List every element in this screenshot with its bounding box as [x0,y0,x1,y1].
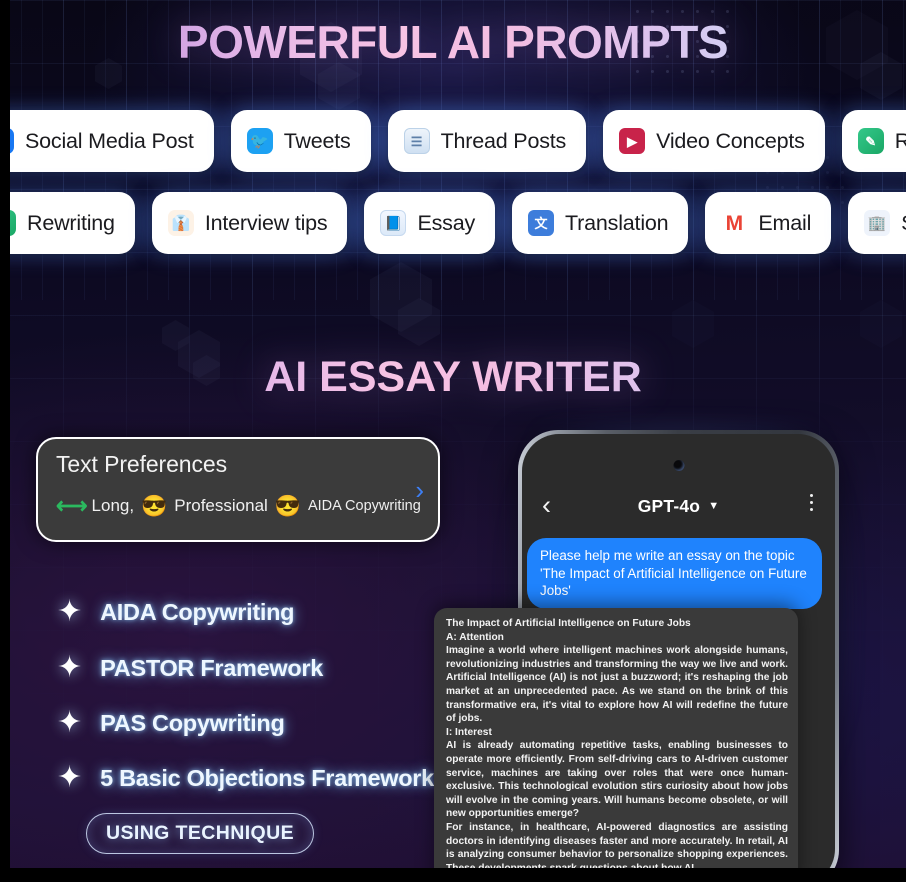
twitter-icon: 🐦 [247,128,273,154]
prompt-chip-essay[interactable]: 📘Essay [364,192,495,254]
model-name: GPT-4o [638,496,700,517]
rewriting-icon: ✎ [858,128,884,154]
chat-navbar: ‹ GPT-4o ▼ [522,490,835,522]
feature-label: 5 Basic Objections Framework [100,765,434,792]
text-preferences-card[interactable]: Text Preferences ⟷ Long, 😎 Professional … [36,437,440,542]
prompt-chip-label: Video Concepts [656,129,805,154]
prompt-chip-tweets[interactable]: 🐦Tweets [231,110,371,172]
preference-framework: AIDA Copywriting [308,498,421,514]
prompt-chip-rewriting[interactable]: ✎Rewriting [0,192,135,254]
front-camera-icon [673,460,684,471]
prompt-chip-translation[interactable]: 文Translation [512,192,688,254]
essay-section-a: A: Attention [446,631,788,645]
preferences-summary: ⟷ Long, 😎 Professional 😎 AIDA Copywritin… [56,493,394,519]
prompt-chip-label: Translation [565,211,668,236]
page-title-prompts: POWERFUL AI PROMPTS [0,16,906,68]
feature-label: AIDA Copywriting [100,599,294,626]
feature-item-pas[interactable]: ✦ PAS Copywriting [57,708,285,738]
interview-icon: 👔 [168,210,194,236]
sparkle-icon: ✦ [57,708,82,738]
prompt-chip-label: Tweets [284,129,351,154]
framework-emoji-icon: 😎 [275,496,301,517]
feature-label: PAS Copywriting [100,710,284,737]
essay-paragraph-a: Imagine a world where intelligent machin… [446,644,788,726]
preference-tone: Professional [174,496,268,516]
user-message-bubble: Please help me write an essay on the top… [527,538,822,609]
prompt-category-row-2[interactable]: ✎Rewriting👔Interview tips📘Essay文Translat… [0,189,906,257]
prompt-category-row-1[interactable]: fSocial Media Post🐦Tweets☰Thread Posts▶V… [0,107,906,175]
prompt-chip-label: Thread Posts [441,129,566,154]
left-letterbox [0,0,10,882]
prompt-chip-rewriting[interactable]: ✎Rewriting [842,110,906,172]
gmail-icon: M [721,210,747,236]
bottom-letterbox [0,868,906,882]
essay-result-card[interactable]: The Impact of Artificial Intelligence on… [434,608,798,882]
video-icon: ▶ [619,128,645,154]
sparkle-icon: ✦ [57,763,82,793]
prompt-chip-label: Interview tips [205,211,328,236]
prompt-chip-label: Social Media Post [25,129,194,154]
thread-icon: ☰ [404,128,430,154]
prompt-chip-label: Rewriting [27,211,115,236]
prompt-chip-social-media-post[interactable]: fSocial Media Post [0,110,214,172]
essay-section-i: I: Interest [446,726,788,740]
using-technique-label: USING TECHNIQUE [106,822,294,845]
length-arrow-icon: ⟷ [56,493,85,519]
sparkle-icon: ✦ [57,653,82,683]
more-options-icon[interactable] [810,494,813,511]
sparkle-icon: ✦ [57,597,82,627]
chevron-right-icon[interactable]: › [415,477,424,503]
feature-label: PASTOR Framework [100,655,323,682]
essay-paragraph-i: AI is already automating repetitive task… [446,739,788,821]
prompt-chip-label: Email [758,211,811,236]
prompt-chip-label: Rewriting [895,129,906,154]
using-technique-button[interactable]: USING TECHNIQUE [86,813,314,854]
poster-canvas: POWERFUL AI PROMPTS AI ESSAY WRITER fSoc… [0,0,906,882]
essay-icon: 📘 [380,210,406,236]
prompt-chip-email[interactable]: MEmail [705,192,831,254]
translate-icon: 文 [528,210,554,236]
chevron-down-icon: ▼ [708,501,719,512]
preferences-title: Text Preferences [56,451,227,478]
essay-title: The Impact of Artificial Intelligence on… [446,617,788,631]
page-title-essay: AI ESSAY WRITER [0,352,906,402]
tone-emoji-icon: 😎 [141,496,167,517]
prompt-chip-interview-tips[interactable]: 👔Interview tips [152,192,348,254]
feature-item-pastor[interactable]: ✦ PASTOR Framework [57,653,323,683]
prompt-chip-label: Stories [901,211,906,236]
preference-length: Long, [92,496,135,516]
prompt-chip-thread-posts[interactable]: ☰Thread Posts [388,110,586,172]
prompt-chip-video-concepts[interactable]: ▶Video Concepts [603,110,825,172]
model-selector[interactable]: GPT-4o ▼ [638,496,720,517]
feature-item-objections[interactable]: ✦ 5 Basic Objections Framework [57,763,434,793]
prompt-chip-label: Essay [417,211,475,236]
prompt-chip-stories[interactable]: 🏢Stories [848,192,906,254]
back-icon[interactable]: ‹ [542,492,551,519]
feature-item-aida[interactable]: ✦ AIDA Copywriting [57,597,294,627]
business-icon: 🏢 [864,210,890,236]
